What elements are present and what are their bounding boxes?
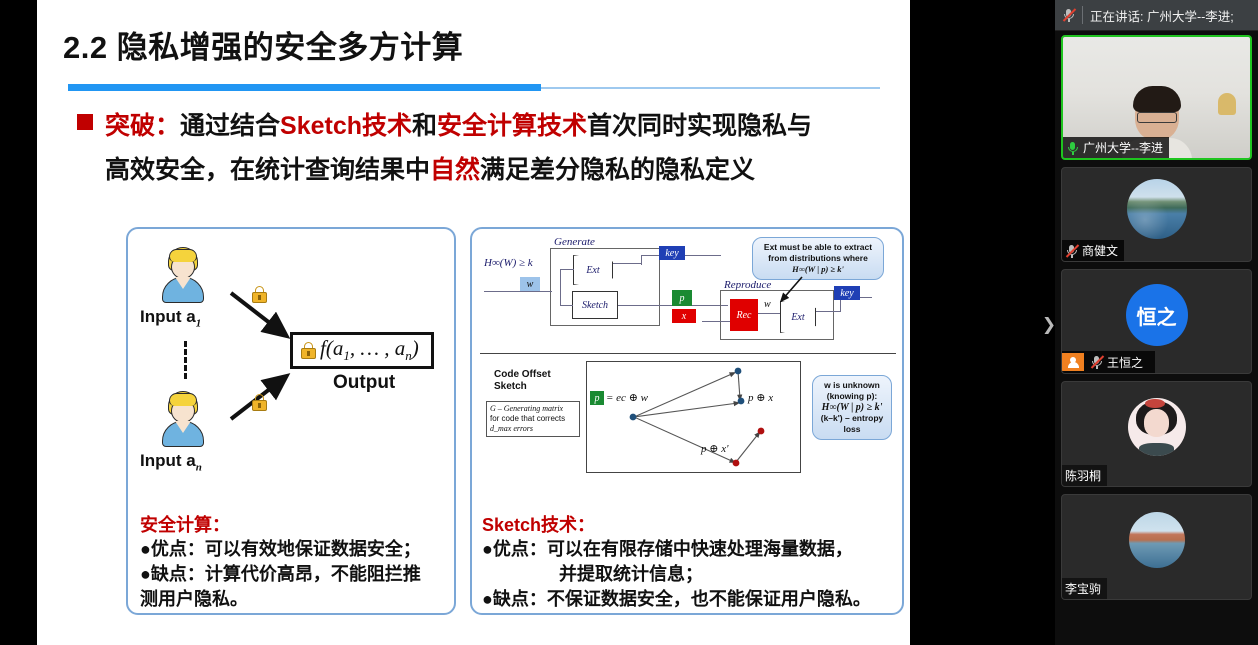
formula-part-3: ): [412, 336, 419, 360]
participant-name: 陈羽桐: [1065, 467, 1101, 484]
participant-tile-chenyutong[interactable]: 陈羽桐: [1061, 381, 1252, 487]
avatar: [1128, 398, 1186, 456]
participant-tile-list[interactable]: 广州大学--李进 商健文: [1055, 31, 1258, 645]
input-1-text: Input a: [140, 307, 196, 326]
portrait-illustration-avatar: [1128, 398, 1186, 456]
bullet-text: 突破：通过结合Sketch技术和安全计算技术首次同时实现隐私与 高效安全，在统计…: [105, 104, 812, 192]
code-offset-title-1: Code Offset: [494, 369, 551, 380]
mic-unmuted-icon: [1066, 141, 1079, 155]
tag-key-2: key: [834, 286, 860, 300]
input-1-subscript: 1: [196, 317, 202, 329]
entropy-callout-line-4: (k–k') – entropy: [819, 413, 885, 424]
padlock-icon-output: [301, 342, 316, 359]
caption-line-1: ●优点：可以在有限存储中快速处理海量数据，: [482, 537, 898, 562]
entropy-input-label: H∞(W) ≥ k: [484, 257, 533, 269]
caption-heading: 安全计算：: [140, 511, 450, 537]
participant-tile-wanghengzhi[interactable]: 恒之 王恒之: [1061, 269, 1252, 374]
wire-w-in: [484, 291, 552, 292]
padlock-icon-arrow-1: [252, 286, 267, 303]
block-sketch: Sketch: [572, 291, 618, 319]
formula-part-2: , … , a: [350, 336, 405, 360]
tag-w: w: [520, 277, 540, 292]
wire-ext-up: [641, 255, 642, 265]
padlock-keyhole: [258, 295, 261, 300]
tag-p: p: [672, 290, 692, 306]
avatar-input-n: [160, 391, 206, 447]
caption-heading: Sketch技术：: [482, 511, 898, 537]
active-speaker-bar: 正在讲话: 广州大学--李进;: [1055, 0, 1258, 31]
mic-stem: [1072, 152, 1074, 155]
shared-slide: 2.2 隐私增强的安全多方计算 突破：通过结合Sketch技术和安全计算技术首次…: [37, 0, 910, 645]
glasses-icon: [1137, 112, 1177, 123]
participant-name: 商健文: [1082, 242, 1118, 259]
person-body-glyph: [1068, 362, 1079, 368]
participant-name: 王恒之: [1107, 354, 1149, 371]
avatar-fringe: [169, 249, 197, 262]
sketch-technique-panel: H∞(W) ≥ k w Generate Ext Sketch key p x: [470, 227, 904, 615]
bullet-seg-6: 首次同时实现隐私与: [587, 112, 812, 140]
callout-line-3: H∞(W | p) ≥ k': [759, 264, 877, 275]
title-underline-thin: [541, 87, 880, 89]
wire-ext2-out: [816, 311, 840, 312]
group-generate-label: Generate: [554, 236, 595, 248]
mic-stem: [1096, 366, 1098, 369]
output-formula-text: f(a1, … , an): [320, 336, 419, 364]
wire-to-sketch: [560, 305, 573, 306]
label-w-middle: w: [764, 299, 771, 310]
bullet-seg-7: 高效安全，在统计查询结果中: [105, 156, 430, 184]
caption-line-2: 并提取统计信息；: [482, 562, 898, 587]
screen-share-meeting-window: 2.2 隐私增强的安全多方计算 突破：通过结合Sketch技术和安全计算技术首次…: [0, 0, 1258, 645]
ellipsis-divider: [184, 341, 187, 379]
bullet-paragraph: 突破：通过结合Sketch技术和安全计算技术首次同时实现隐私与 高效安全，在统计…: [77, 104, 912, 192]
mic-muted-icon: [1090, 355, 1103, 369]
stage-letterbox: [910, 0, 1055, 645]
note-line-1: G – Generating matrix: [490, 404, 576, 414]
portrait-face: [1144, 409, 1170, 437]
mic-muted-icon: [1062, 8, 1075, 22]
participant-name-badge: 广州大学--李进: [1063, 137, 1169, 158]
bullet-seg-natural: 自然: [430, 156, 480, 184]
formula-part-1: f(a: [320, 336, 343, 360]
bullet-seg-breakthrough: 突破：: [105, 112, 180, 140]
callout-line-2: from distributions where: [759, 253, 877, 264]
callout-ext-extract: Ext must be able to extract from distrib…: [752, 237, 884, 280]
callout-pointer-arrow: [772, 275, 812, 307]
person-hair: [1133, 86, 1181, 112]
tag-key-1: key: [659, 246, 685, 260]
caption-line-1: ●优点：可以有效地保证数据安全；: [140, 537, 450, 562]
callout-line-1: Ext must be able to extract: [759, 242, 877, 253]
wire-to-ext: [560, 269, 574, 270]
mic-stem: [1071, 255, 1073, 258]
avatar-input-1: [160, 247, 206, 303]
participant-name-badge: 商健文: [1062, 240, 1124, 261]
entropy-callout-line-2: (knowing p):: [819, 391, 885, 402]
avatar: [1127, 179, 1187, 239]
entropy-callout-line-5: loss: [819, 424, 885, 435]
input-n-label: Input an: [140, 451, 202, 473]
caption-line-3: ●缺点：不保证数据安全，也不能保证用户隐私。: [482, 587, 898, 612]
participant-name-badge: 李宝驹: [1062, 578, 1107, 599]
landscape-lake-avatar: [1127, 179, 1187, 239]
portrait-shoulders: [1139, 443, 1174, 456]
participant-name-badge: 王恒之: [1062, 351, 1155, 373]
lamp-object: [1218, 93, 1236, 115]
vector-label-1: p ⊕ x: [748, 391, 773, 404]
mpc-diagram: Input a1 Input an: [128, 229, 458, 509]
participant-tile-libaoju[interactable]: 李宝驹: [1061, 494, 1252, 600]
page-title: 2.2 隐私增强的安全多方计算: [63, 22, 463, 67]
generating-matrix-note: G – Generating matrix for code that corr…: [486, 401, 580, 437]
entropy-callout-line-3: H∞(W | p) ≥ k': [819, 402, 885, 413]
note-line-2: for code that corrects: [490, 414, 576, 424]
entropy-callout-line-1: w is unknown: [819, 380, 885, 391]
caption-line-3: 测用户隐私。: [140, 587, 450, 612]
code-offset-title-2: Sketch: [494, 381, 527, 392]
mic-muted-icon: [1065, 244, 1078, 258]
callout-entropy-loss: w is unknown (knowing p): H∞(W | p) ≥ k'…: [812, 375, 892, 440]
bullet-seg-secure-compute: 安全计算技术: [437, 112, 587, 140]
vector-arrows: [586, 361, 801, 473]
note-line-3: d_max errors: [490, 424, 576, 434]
input-1-label: Input a1: [140, 307, 201, 329]
caption-line-2: ●缺点：计算代价高昂，不能阻拦推: [140, 562, 450, 587]
active-speaker-label: 正在讲话: 广州大学--李进;: [1090, 6, 1234, 25]
speaker-bar-divider: [1082, 6, 1083, 24]
bullet-marker-icon: [77, 114, 93, 130]
wire-split: [560, 269, 561, 305]
participant-sidebar: 正在讲话: 广州大学--李进;: [1055, 0, 1258, 645]
bullet-seg-2: 通过结合: [180, 112, 280, 140]
sketch-technique-caption: Sketch技术： ●优点：可以在有限存储中快速处理海量数据， 并提取统计信息；…: [482, 511, 898, 612]
landscape-city-avatar: [1129, 512, 1185, 568]
wire-ext-out: [613, 263, 641, 264]
bullet-seg-4: 和: [412, 112, 437, 140]
avatar-fringe: [169, 393, 197, 406]
avatar-initials: 恒之: [1126, 284, 1188, 346]
title-underline-thick: [68, 84, 541, 91]
participant-name: 广州大学--李进: [1083, 139, 1163, 156]
fuzzy-extractor-diagram: H∞(W) ≥ k w Generate Ext Sketch key p x: [476, 233, 900, 505]
bullet-seg-9: 满足差分隐私的隐私定义: [480, 156, 755, 184]
input-n-text: Input a: [140, 451, 196, 470]
mic-stem: [1068, 19, 1070, 22]
block-rec: Rec: [730, 299, 758, 331]
padlock-keyhole: [307, 351, 310, 356]
avatar: [1129, 512, 1185, 568]
person-badge-icon: [1062, 353, 1084, 371]
vector-label-2: p ⊕ x': [701, 442, 728, 455]
secure-computation-panel: Input a1 Input an: [126, 227, 456, 615]
tag-x: x: [672, 309, 696, 323]
secure-computation-caption: 安全计算： ●优点：可以有效地保证数据安全； ●缺点：计算代价高昂，不能阻拦推 …: [140, 511, 450, 612]
avatar: 恒之: [1126, 284, 1188, 346]
padlock-keyhole: [258, 403, 261, 408]
padlock-icon-arrow-n: [252, 394, 267, 411]
output-label: Output: [333, 372, 395, 394]
wire-x-in: [702, 321, 730, 322]
participant-name-badge: 陈羽桐: [1062, 465, 1107, 486]
participant-tile-shangjianwen[interactable]: 商健文: [1061, 167, 1252, 262]
output-formula-box: f(a1, … , an): [290, 332, 434, 369]
participant-tile-lijin[interactable]: 广州大学--李进: [1061, 35, 1252, 160]
input-n-subscript: n: [196, 461, 202, 473]
bullet-seg-sketch: Sketch技术: [280, 112, 412, 140]
wire-rec-ext: [758, 313, 780, 314]
participant-name: 李宝驹: [1065, 580, 1101, 597]
person-glyph: [1068, 357, 1079, 368]
figure-divider: [480, 353, 896, 354]
